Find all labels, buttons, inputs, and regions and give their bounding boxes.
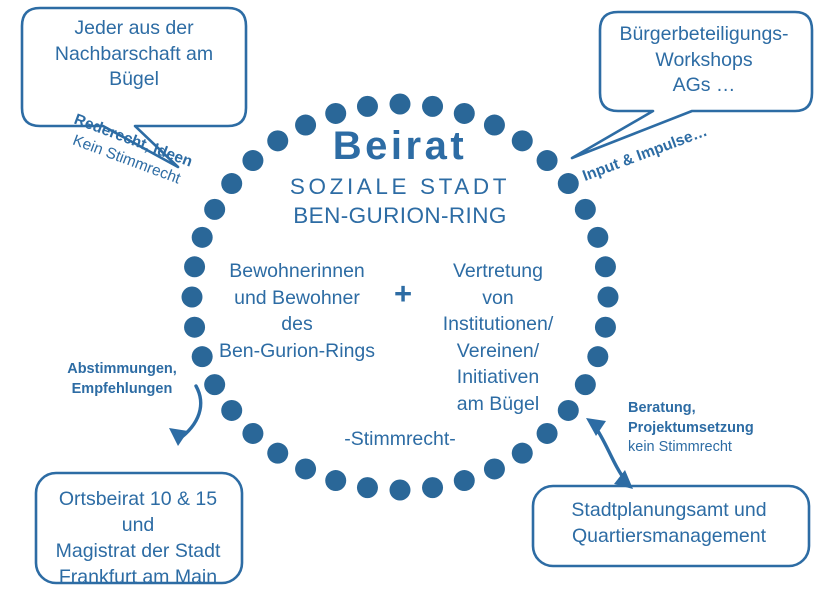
- ring-dot: [512, 443, 533, 464]
- member-right-line-2: von: [418, 285, 578, 312]
- ring-dot: [595, 256, 616, 277]
- member-left-line-4: Ben-Gurion-Rings: [206, 338, 388, 365]
- member-right-line-5: Initiativen: [418, 364, 578, 391]
- ring-dot: [182, 287, 203, 308]
- member-left-line-1: Bewohnerinnen: [206, 258, 388, 285]
- member-column-left: Bewohnerinnen und Bewohner des Ben-Gurio…: [206, 258, 388, 364]
- ring-dot: [204, 199, 225, 220]
- box-bottom-right-line-1: Stadtplanungsamt und: [535, 498, 803, 524]
- arrowhead-down-left: [169, 428, 188, 446]
- bubble-top-left-line-1: Jeder aus der: [30, 16, 238, 42]
- box-bottom-left-line-3: Magistrat der Stadt: [40, 539, 236, 565]
- voting-rights-note: -Stimmrecht-: [310, 428, 490, 451]
- ring-dot: [204, 374, 225, 395]
- arrowhead-up-left: [586, 418, 606, 436]
- ring-dot: [357, 477, 378, 498]
- box-bottom-left-line-2: und: [40, 513, 236, 539]
- member-right-line-1: Vertretung: [418, 258, 578, 285]
- ring-dot: [221, 400, 242, 421]
- ring-dot: [422, 96, 443, 117]
- member-right-line-3: Institutionen/: [418, 311, 578, 338]
- ring-dot: [390, 94, 411, 115]
- bubble-top-right-line-2: Workshops: [606, 48, 802, 74]
- annotation-abstimmungen-line-2: Empfehlungen: [47, 380, 197, 400]
- ring-dot: [595, 317, 616, 338]
- ring-dot: [598, 287, 619, 308]
- member-right-line-6: am Bügel: [418, 391, 578, 418]
- bubble-top-left-line-3: Bügel: [30, 67, 238, 93]
- plus-icon: +: [388, 278, 418, 309]
- ring-dot: [184, 317, 205, 338]
- box-bottom-right-line-2: Quartiersmanagement: [535, 524, 803, 550]
- ring-dot: [454, 470, 475, 491]
- annotation-abstimmungen: Abstimmungen, Empfehlungen: [47, 360, 197, 399]
- ring-dot: [242, 423, 263, 444]
- ring-dot: [575, 199, 596, 220]
- center-subtitle: SOZIALE STADT: [240, 172, 560, 202]
- ring-dot: [484, 458, 505, 479]
- ring-dot: [325, 103, 346, 124]
- member-column-right: Vertretung von Institutionen/ Vereinen/ …: [418, 258, 578, 417]
- bubble-top-left-line-2: Nachbarschaft am: [30, 42, 238, 68]
- ring-dot: [587, 346, 608, 367]
- ring-dot: [422, 477, 443, 498]
- ring-dot: [558, 173, 579, 194]
- annotation-abstimmungen-line-1: Abstimmungen,: [47, 360, 197, 380]
- box-bottom-right-text: Stadtplanungsamt und Quartiersmanagement: [535, 498, 803, 550]
- annotation-beratung: Beratung, Projektumsetzung kein Stimmrec…: [628, 399, 806, 458]
- bubble-top-right-text: Bürgerbeteiligungs- Workshops AGs …: [606, 22, 802, 99]
- annotation-beratung-line-2: Projektumsetzung: [628, 419, 806, 439]
- ring-dot: [537, 423, 558, 444]
- ring-dot: [267, 443, 288, 464]
- annotation-beratung-line-1: Beratung,: [628, 399, 806, 419]
- ring-dot: [357, 96, 378, 117]
- box-bottom-left-text: Ortsbeirat 10 & 15 und Magistrat der Sta…: [40, 487, 236, 591]
- ring-dot: [587, 227, 608, 248]
- member-left-line-3: des: [206, 311, 388, 338]
- bubble-top-right-line-1: Bürgerbeteiligungs-: [606, 22, 802, 48]
- ring-dot: [390, 480, 411, 501]
- ring-dot: [192, 227, 213, 248]
- bubble-top-left-text: Jeder aus der Nachbarschaft am Bügel: [30, 16, 238, 93]
- box-bottom-left-line-4: Frankfurt am Main: [40, 565, 236, 591]
- center-subtitle-2: BEN-GURION-RING: [240, 202, 560, 230]
- arrow-to-stadtplanungsamt: [586, 418, 633, 489]
- annotation-beratung-line-3: kein Stimmrecht: [628, 438, 806, 458]
- diagram-canvas: Jeder aus der Nachbarschaft am Bügel Red…: [0, 0, 820, 600]
- member-left-line-2: und Bewohner: [206, 285, 388, 312]
- center-headline: Beirat SOZIALE STADT BEN-GURION-RING: [240, 126, 560, 231]
- box-bottom-left-line-1: Ortsbeirat 10 & 15: [40, 487, 236, 513]
- ring-dot: [454, 103, 475, 124]
- member-right-line-4: Vereinen/: [418, 338, 578, 365]
- bubble-top-right-line-3: AGs …: [606, 73, 802, 99]
- ring-dot: [325, 470, 346, 491]
- ring-dot: [184, 256, 205, 277]
- center-title: Beirat: [240, 126, 560, 166]
- ring-dot: [295, 458, 316, 479]
